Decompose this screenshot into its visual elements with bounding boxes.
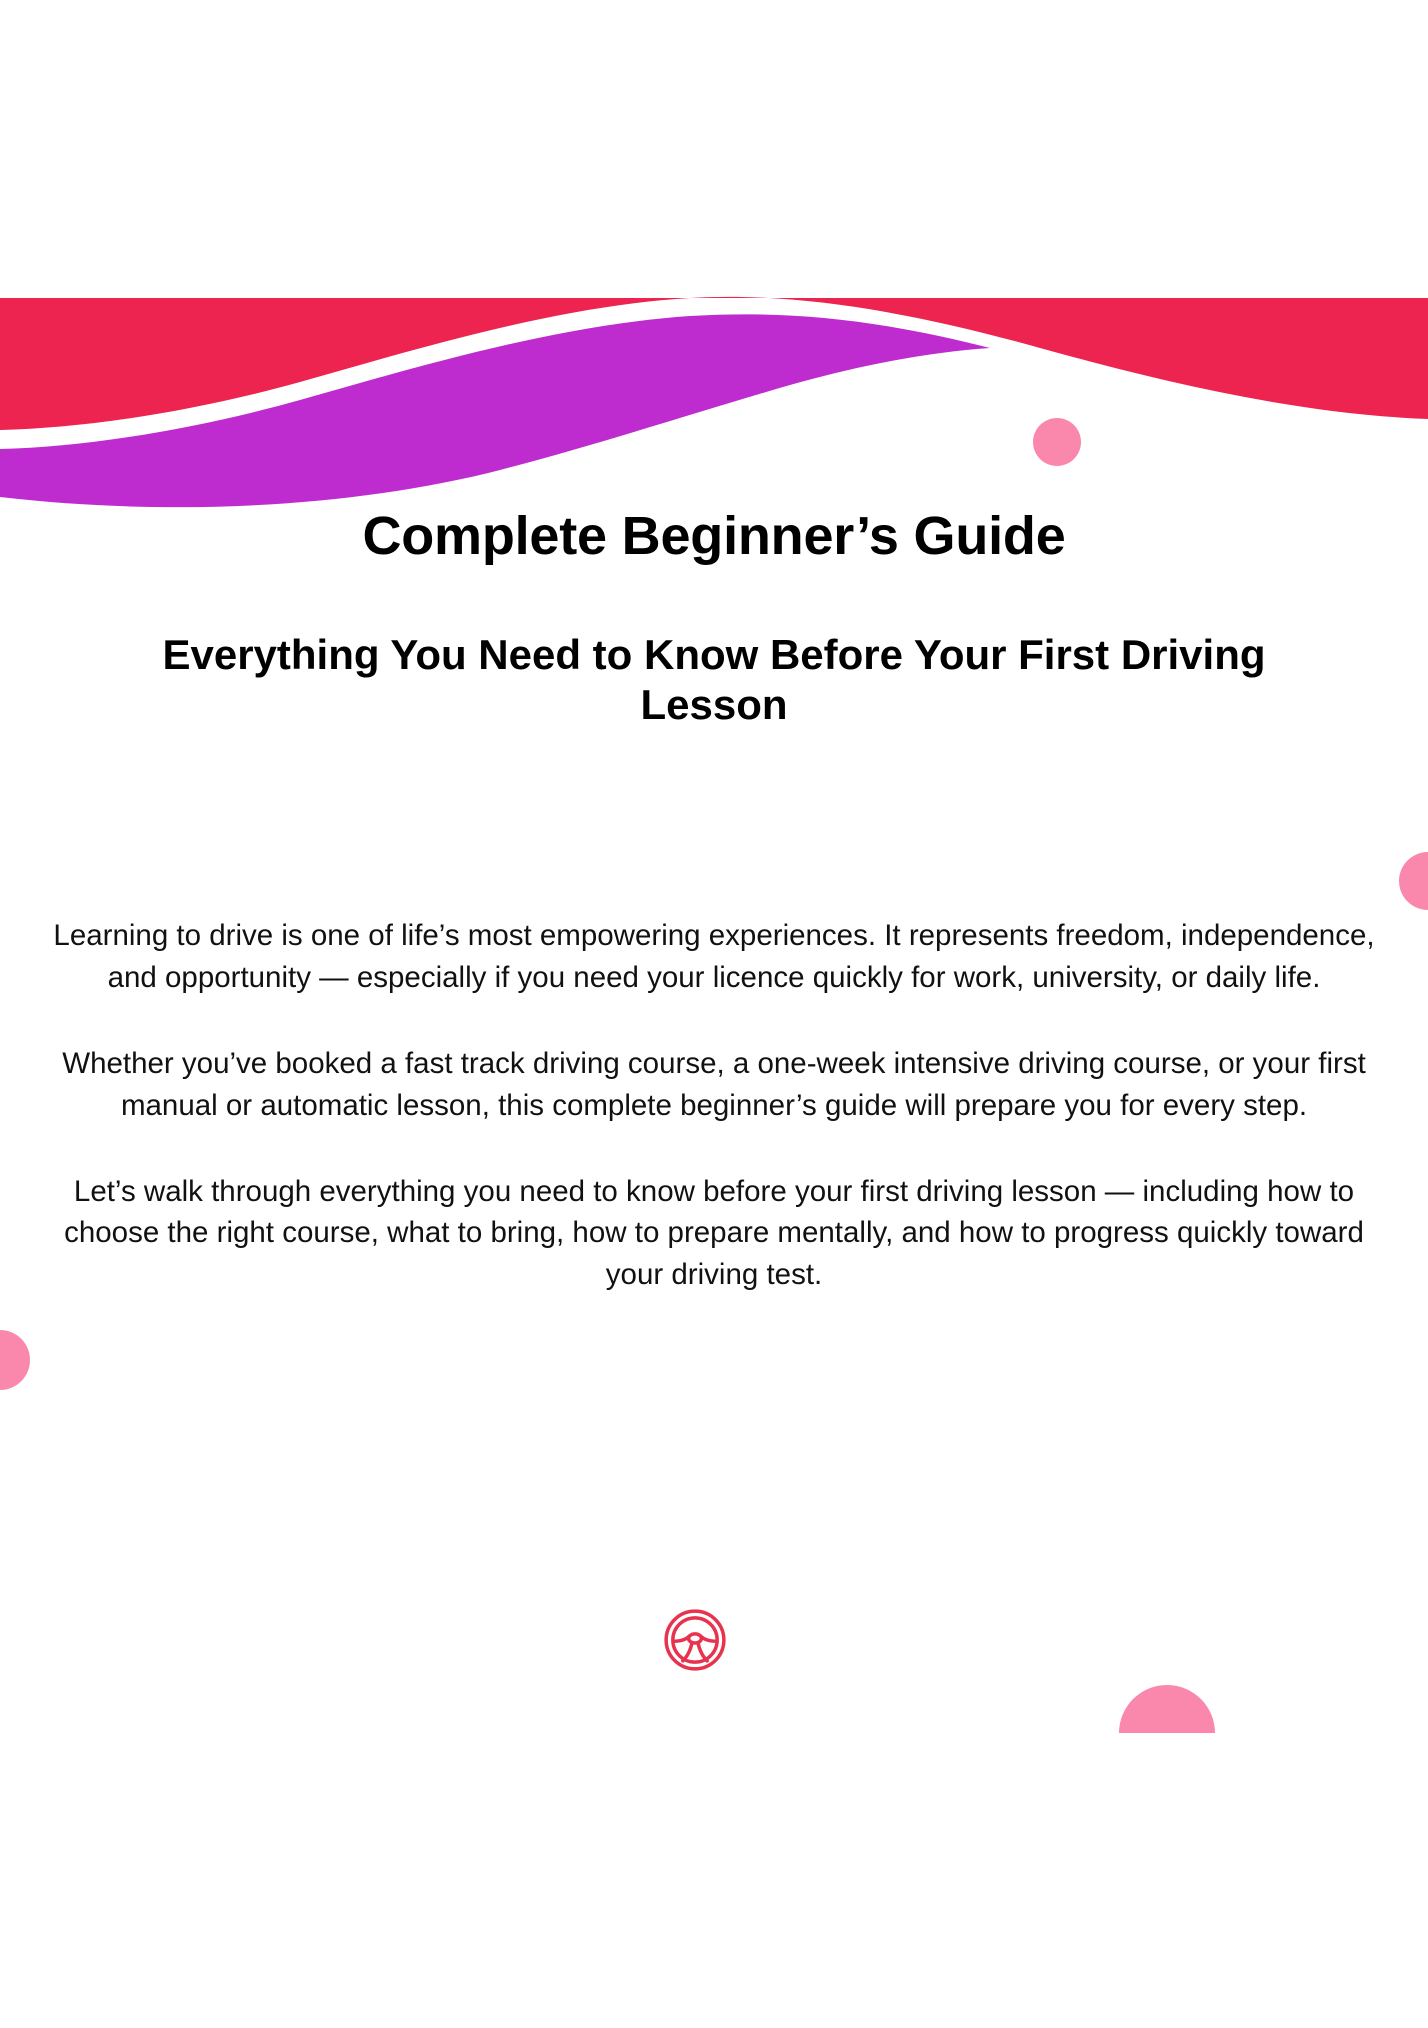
header-wave-red: [0, 297, 1428, 430]
steering-wheel-lower-left-spoke: [683, 1643, 692, 1661]
guide-page: Complete Beginner’s Guide Everything You…: [0, 0, 1428, 2028]
paragraph-3: Let’s walk through everything you need t…: [52, 1171, 1376, 1297]
steering-wheel-left-spoke: [673, 1636, 689, 1641]
pink-circle-right-edge: [1399, 852, 1428, 910]
page-subtitle: Everything You Need to Know Before Your …: [94, 630, 1334, 729]
steering-wheel-hub: [689, 1634, 702, 1643]
paragraph-2: Whether you’ve booked a fast track drivi…: [52, 1043, 1376, 1127]
steering-wheel-icon: [662, 1607, 728, 1673]
pink-circle-left-edge: [0, 1330, 30, 1390]
header-wave-decoration: [0, 0, 1428, 520]
paragraph-1: Learning to drive is one of life’s most …: [52, 915, 1376, 999]
steering-wheel-lower-right-spoke: [698, 1643, 707, 1661]
pink-dome-bottom-right: [1119, 1685, 1215, 1733]
header-wave-purple: [0, 314, 990, 507]
steering-wheel-right-spoke: [701, 1636, 717, 1641]
intro-body-copy: Learning to drive is one of life’s most …: [52, 915, 1376, 1296]
pink-circle-top-right: [1033, 418, 1081, 466]
page-title: Complete Beginner’s Guide: [0, 505, 1428, 567]
